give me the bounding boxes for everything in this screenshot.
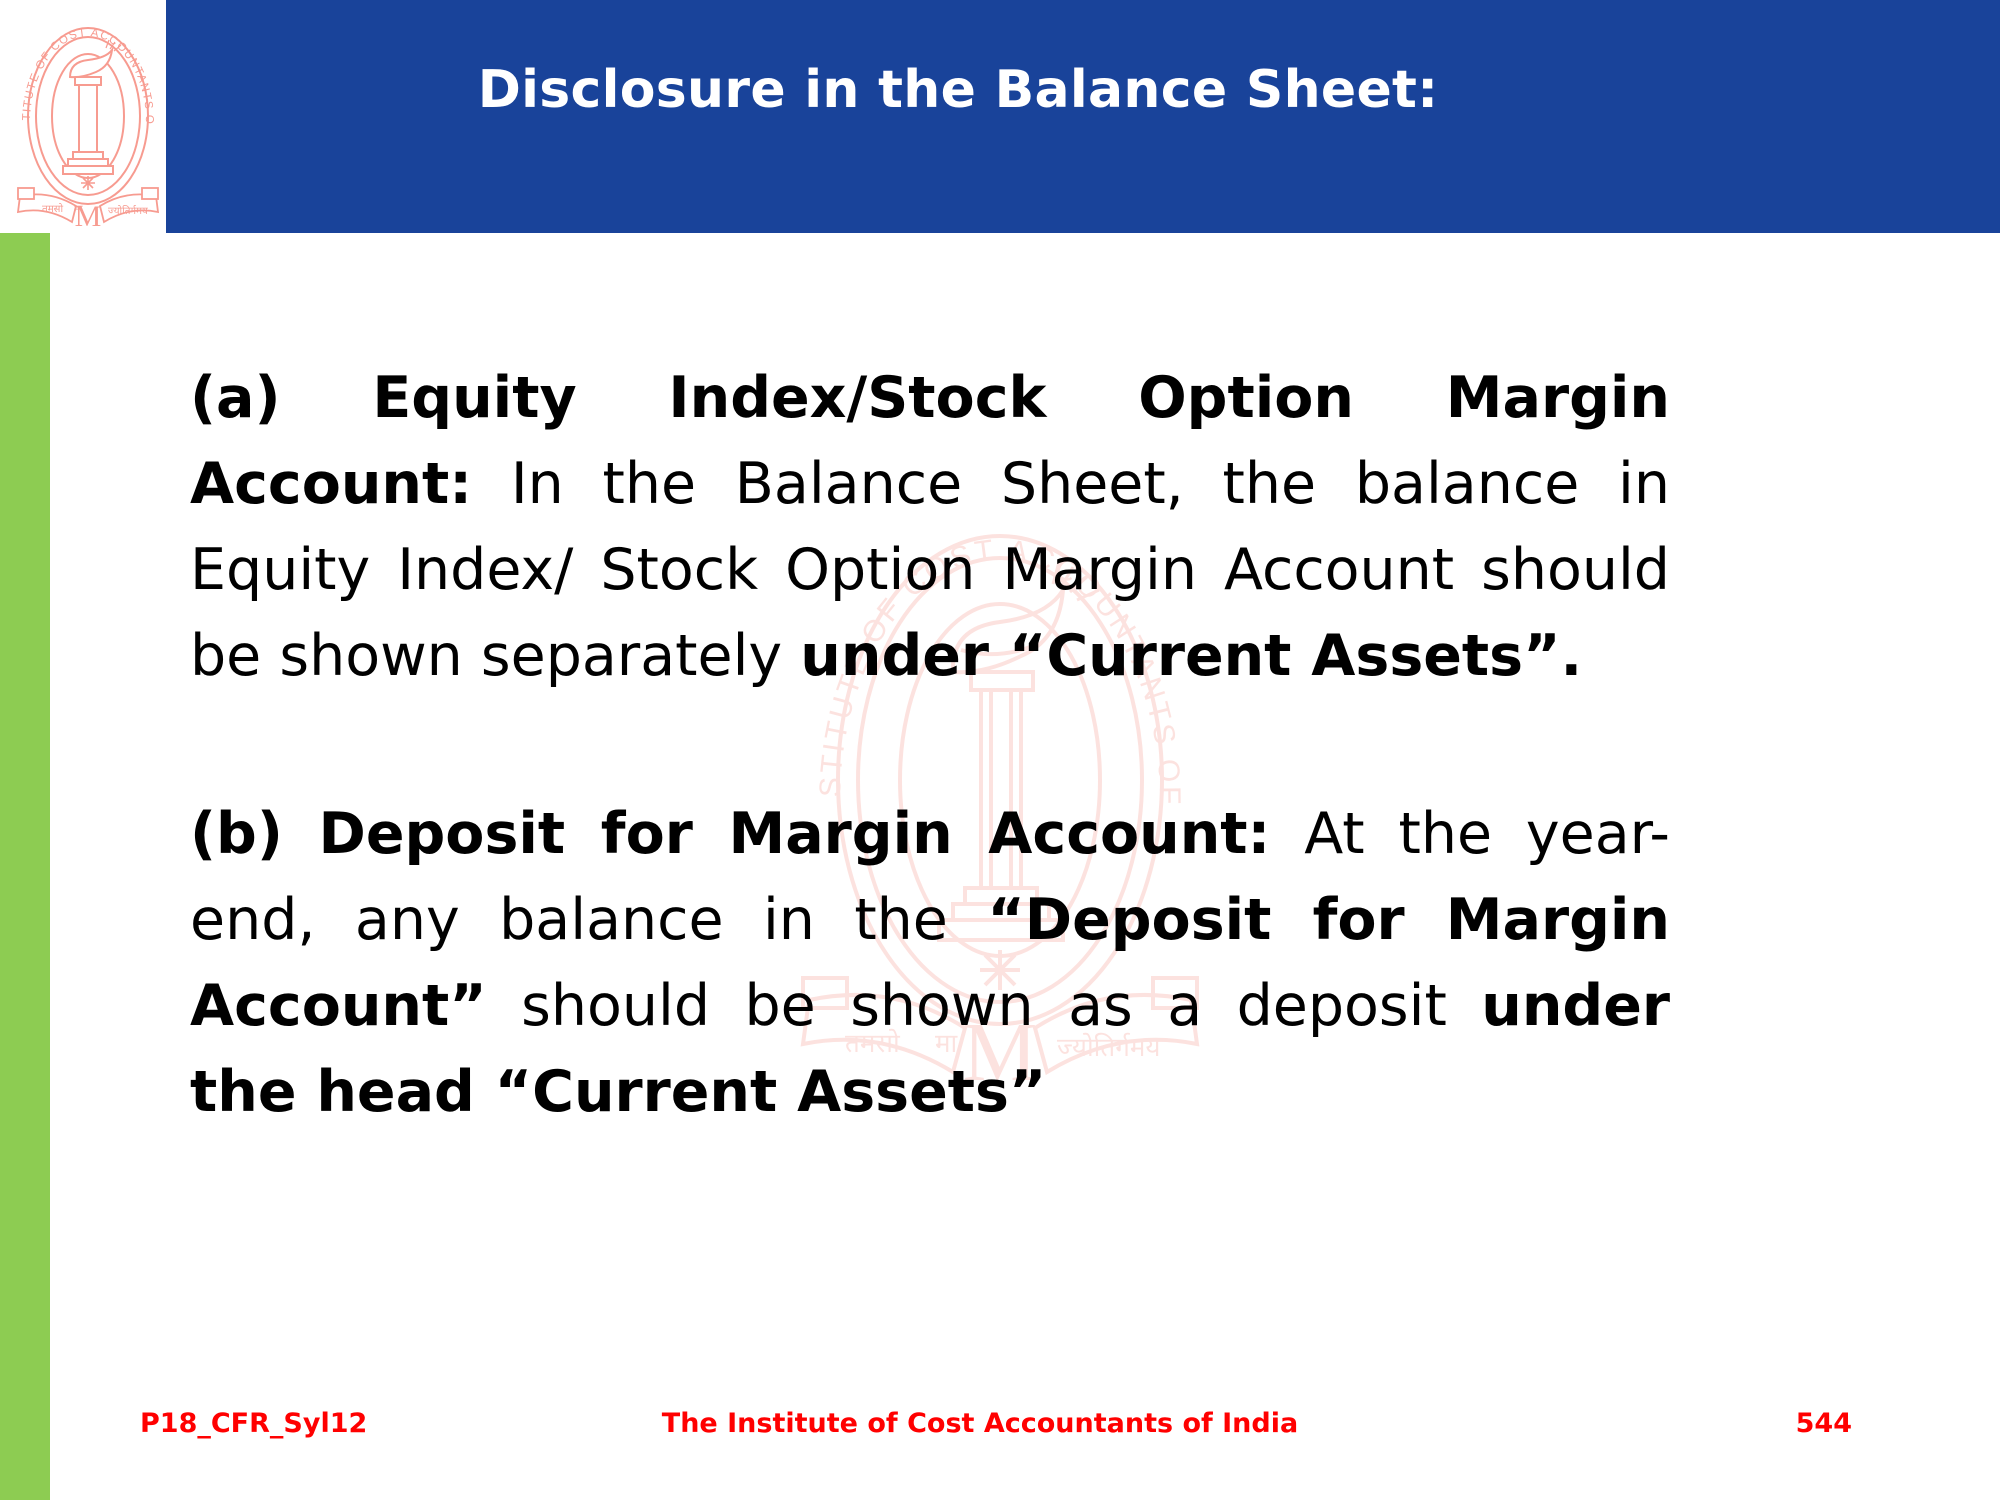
paragraph-point-a: (a) Equity Index/Stock Option Margin Acc… (190, 355, 1670, 699)
svg-text:मा: मा (74, 204, 83, 215)
icai-logo: THE INSTITUTE OF COST ACCOUNTANTS OF IND… (8, 4, 168, 234)
footer: P18_CFR_Syl12 The Institute of Cost Acco… (0, 1400, 2000, 1460)
title-band: Disclosure in the Balance Sheet: (166, 0, 2000, 233)
slide-root: Disclosure in the Balance Sheet: THE INS… (0, 0, 2000, 1500)
svg-text:ज्योतिर्गमय: ज्योतिर्गमय (108, 205, 148, 217)
page-title: Disclosure in the Balance Sheet: (166, 60, 2000, 120)
slide-body: (a) Equity Index/Stock Option Margin Acc… (190, 355, 1670, 1135)
svg-text:तमसो: तमसो (42, 203, 63, 215)
paragraph-point-b: (b) Deposit for Margin Account: At the y… (190, 791, 1670, 1135)
left-accent-bar (0, 233, 50, 1500)
footer-institute-name: The Institute of Cost Accountants of Ind… (0, 1408, 2000, 1439)
footer-page-number: 544 (1796, 1408, 1852, 1439)
